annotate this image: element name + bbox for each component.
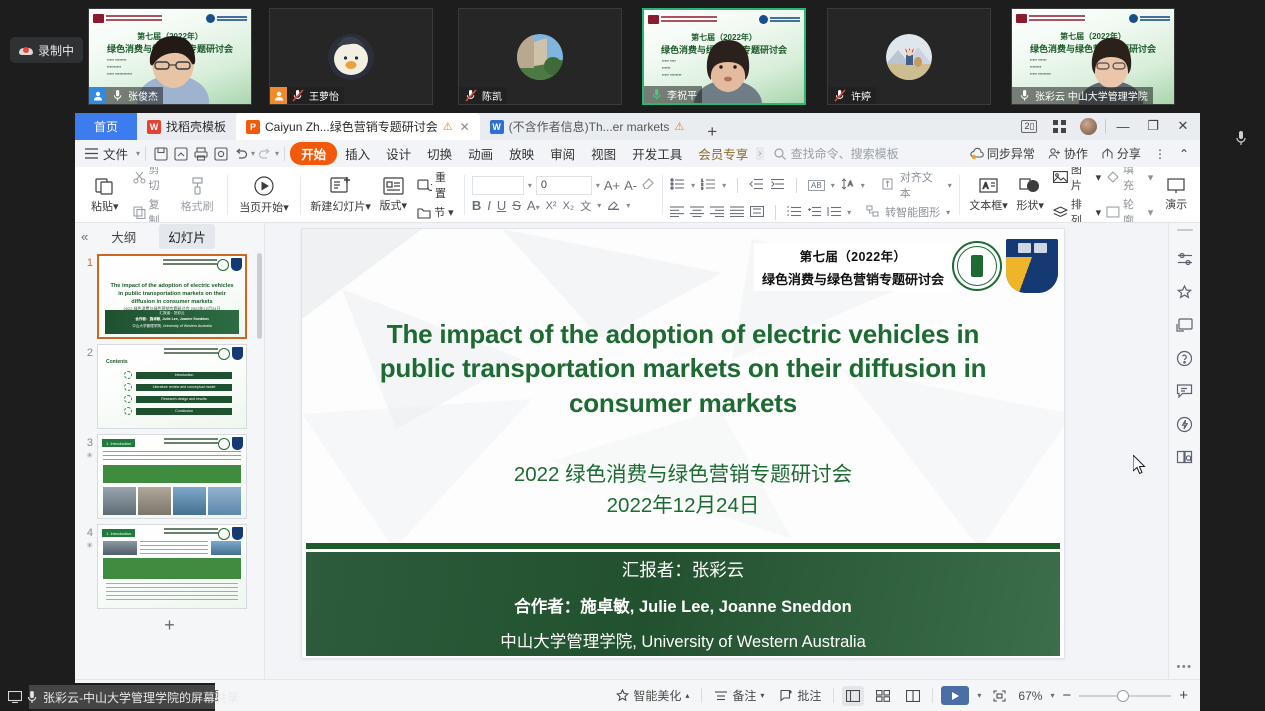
strikethrough-button[interactable]: S (512, 198, 521, 213)
search-placeholder: 查找命令、搜索模板 (791, 145, 899, 162)
ribbon-tab-design[interactable]: 设计 (378, 144, 419, 163)
font-size-input[interactable]: 0 (536, 176, 592, 195)
rail-grip[interactable] (1177, 229, 1193, 231)
bullets-icon (670, 178, 685, 190)
align-text-button[interactable] (881, 178, 894, 193)
align-justify-button[interactable] (730, 205, 744, 220)
grid-icon[interactable] (1046, 115, 1072, 137)
coauthors-line: 合作者：施卓敏, Julie Lee, Joanne Sneddon (514, 593, 851, 617)
fit-to-window-button[interactable] (989, 690, 1010, 702)
recording-indicator: 录制中 (10, 37, 83, 63)
collaborate-button[interactable]: 协作 (1043, 145, 1093, 162)
desktop-background-left (0, 113, 75, 711)
clear-format-icon (641, 176, 655, 189)
grow-font-button[interactable]: A+ (604, 178, 620, 193)
zoom-in-button[interactable]: + (1179, 687, 1188, 704)
redo-icon[interactable] (255, 144, 275, 164)
paste-button[interactable]: 粘贴▾ (82, 176, 128, 214)
share-icon (1101, 147, 1114, 160)
picture-icon (1053, 171, 1068, 183)
ribbon-tab-slideshow[interactable]: 放映 (501, 144, 542, 163)
thumbnail-row-4[interactable]: 4✳ 1. Introduction (75, 519, 264, 609)
restore-button[interactable]: ❐ (1140, 115, 1166, 137)
font-color-button[interactable]: A▾ (527, 198, 540, 213)
normal-view-button[interactable] (842, 686, 864, 706)
current-slide[interactable]: 第七届（2022年） 绿色消费与绿色营销专题研讨会 ❞ The impact o… (302, 229, 1064, 658)
wps-red-icon: W (147, 120, 161, 134)
smartart-icon (866, 205, 879, 217)
participant-namebar-3: 陈凯 (459, 87, 507, 104)
ribbon-tab-transition[interactable]: 切换 (419, 144, 460, 163)
menu-overflow-icon[interactable]: › (756, 147, 763, 160)
minimize-button[interactable]: — (1110, 115, 1136, 137)
play-circle-icon (253, 175, 275, 197)
chevron-down-icon[interactable]: ▾ (136, 149, 140, 158)
tab-bar: 首页 W 找稻壳模板 P Caiyun Zh...绿色营销专题研讨会 ⚠ ✕ W… (75, 113, 1200, 140)
thumbnail-number: 1 (79, 254, 93, 269)
align-justify-icon (730, 206, 744, 217)
sysu-seal-logo (952, 241, 1002, 291)
cut-button[interactable]: 剪切 (133, 167, 171, 193)
mic-muted-icon (464, 89, 478, 102)
numbering-button[interactable]: 123 (701, 178, 716, 193)
status-bar: 幻灯片 1 / 31 Office 主题 智能美化 ▴ 备注▾ 批注 (75, 679, 1200, 711)
uwa-crest-logo: ❞ (1006, 239, 1058, 293)
window-controls: 2▯ — ❐ ✕ (1016, 115, 1196, 137)
font-name-input[interactable] (472, 176, 524, 195)
avatar (328, 34, 374, 80)
list2-icon (807, 206, 821, 217)
slideshow-dropdown-icon[interactable]: ▾ (977, 691, 981, 700)
cut-icon (133, 171, 146, 184)
warning-icon: ⚠ (674, 120, 684, 133)
tab-outline[interactable]: 大纲 (102, 224, 145, 249)
align-right-icon (710, 206, 724, 217)
ribbon-group-drawing: A 文本框▾ 形状▾ 图片▾ 排列▾ (960, 169, 1200, 221)
slide-divider (306, 543, 1060, 549)
svg-text:A: A (848, 181, 853, 188)
reset-icon (417, 179, 432, 192)
section-button[interactable]: 节▾ (417, 204, 457, 220)
chevron-double-left-icon[interactable]: « (81, 229, 88, 244)
arrange-button[interactable]: 排列▾ (1053, 196, 1101, 223)
recording-label: 录制中 (38, 42, 74, 59)
tile-logos (648, 13, 800, 26)
hamburger-icon[interactable] (81, 144, 101, 164)
chevron-down-icon[interactable]: ▾ (528, 181, 532, 190)
shapes-button[interactable]: 形状▾ (1010, 177, 1050, 213)
format-painter-icon (188, 176, 207, 196)
align-text-label[interactable]: 对齐文本 (900, 169, 942, 201)
participant-name-1: 张俊杰 (128, 88, 158, 103)
distribute-button[interactable] (750, 205, 764, 220)
text-direction-button[interactable]: AB (808, 180, 825, 191)
thumbnail-number: 2 (79, 344, 93, 359)
screen-share-banner: 张彩云-中山大学管理学院的屏幕共享 (0, 683, 215, 711)
mic-icon (110, 89, 124, 102)
document-search-icon[interactable] (1173, 446, 1197, 468)
normal-view-icon (846, 690, 860, 702)
copy-icon (133, 206, 146, 219)
ribbon-tab-view[interactable]: 视图 (583, 144, 624, 163)
close-tab-icon[interactable]: ✕ (458, 120, 470, 134)
align-left-icon (670, 206, 684, 217)
workspace: « 大纲 幻灯片 1 The impact of the adoption of… (75, 223, 1200, 679)
avatar[interactable] (1080, 118, 1097, 135)
screen: 录制中 第七届（2022年） 绿色消费与绿色营销专题研讨会 ▪▪▪▪▪ ▪▪▪▪… (0, 0, 1265, 711)
thumbnail-slide-4[interactable]: 1. Introduction (97, 524, 247, 609)
desktop-background-right (1200, 113, 1265, 711)
convert-smartart-button[interactable] (866, 205, 879, 220)
textbox-button[interactable]: A 文本框▾ (967, 177, 1011, 213)
participant-namebar-6: 张彩云 中山大学管理学院 (1012, 87, 1153, 104)
participant-name-4: 李祝平 (667, 87, 697, 102)
zoom-slider[interactable] (1079, 695, 1171, 697)
thumbnail-scrollbar[interactable] (257, 253, 262, 339)
undo-icon[interactable] (231, 144, 251, 164)
participant-tile-6[interactable]: 第七届（2022年） 绿色消费与绿色营销专题研讨会 ▪▪▪▪▪ ▪▪▪▪▪▪▪▪… (1011, 8, 1175, 105)
ribbon-group-present: 当页开始▾ (228, 169, 300, 221)
tab-count-badge[interactable]: 2▯ (1016, 115, 1042, 137)
sync-status[interactable]: 同步异常 (965, 145, 1040, 162)
start-slideshow-button[interactable] (941, 686, 969, 705)
user-icon (270, 87, 287, 104)
search-box[interactable]: 查找命令、搜索模板 (774, 145, 899, 162)
tab-presentation[interactable]: P Caiyun Zh...绿色营销专题研讨会 ⚠ ✕ (236, 113, 480, 140)
thumbnail-heading: 1. Introduction (102, 529, 135, 537)
fit-to-window-icon (993, 690, 1006, 702)
notes-button[interactable]: 备注▾ (710, 687, 768, 704)
distribute-icon (750, 206, 764, 217)
line-spacing-icon: A (841, 178, 855, 190)
mic-icon (27, 690, 37, 704)
participant-namebar-5: 许婷 (828, 87, 876, 104)
thumbnail-number: 4✳ (79, 524, 93, 551)
wps-office-window: 首页 W 找稻壳模板 P Caiyun Zh...绿色营销专题研讨会 ⚠ ✕ W… (75, 113, 1200, 711)
mouse-cursor (1133, 455, 1146, 475)
tab-document[interactable]: W (不含作者信息)Th...er markets ⚠ (480, 113, 695, 140)
play-icon (950, 691, 960, 701)
comment-icon (780, 689, 793, 702)
highlight-button[interactable] (607, 198, 620, 213)
ribbon-toolbar: 粘贴▾ 剪切 复制 格式刷 (75, 167, 1200, 223)
participant-tile-2[interactable]: 王萝怡 (269, 8, 433, 105)
tab-templates[interactable]: W 找稻壳模板 (137, 113, 236, 140)
mic-muted-icon (291, 89, 305, 102)
thumbnail-title: The impact of the adoption of electric v… (109, 282, 235, 306)
warning-icon: ⚠ (443, 120, 453, 133)
reading-view-button[interactable] (902, 686, 924, 706)
presenter-line: 汇报者：张彩云 (622, 557, 745, 582)
status-right: 智能美化 ▴ 备注▾ 批注 (612, 686, 1200, 706)
print-preview-icon[interactable] (211, 144, 231, 164)
slide-canvas-area: 第七届（2022年） 绿色消费与绿色营销专题研讨会 ❞ The impact o… (265, 223, 1200, 679)
ribbon-group-slides: 新建幻灯片▾ 版式▾ 重置 节▾ (301, 169, 464, 221)
present-button[interactable]: 演示 (1159, 178, 1193, 212)
list-icon (787, 206, 801, 217)
italic-button[interactable]: I (487, 198, 491, 213)
conference-banner: 第七届（2022年） 绿色消费与绿色营销专题研讨会 (754, 243, 952, 291)
picture-button[interactable]: 图片▾ (1053, 167, 1101, 193)
ribbon-tab-insert[interactable]: 插入 (337, 144, 378, 163)
chevron-down-icon[interactable]: ▾ (596, 181, 600, 190)
slide-subtitle: 2022 绿色消费与绿色营销专题研讨会 2022年12月24日 (350, 459, 1016, 521)
tile-logos (1016, 12, 1170, 25)
increase-indent-button[interactable] (770, 178, 785, 193)
align-center-button[interactable] (690, 205, 704, 220)
user-icon (89, 87, 106, 104)
section-icon (417, 206, 431, 219)
ppt-icon: P (246, 120, 260, 134)
list-button-3[interactable] (827, 205, 841, 220)
collaborate-icon (1048, 147, 1061, 160)
fill-button[interactable]: 填充▾ (1106, 167, 1153, 193)
zoom-out-button[interactable]: − (1062, 687, 1071, 704)
participant-namebar-1: 张俊杰 (89, 87, 163, 104)
share-button[interactable]: 分享 (1096, 145, 1146, 162)
ribbon-tab-member[interactable]: 会员专享 (690, 144, 756, 163)
subscript-button[interactable]: X₂ (563, 200, 575, 212)
thumbnail-green-box: 汇报者：张彩云 合作者：施卓敏, Julie Lee, Joanne Snedd… (105, 310, 239, 334)
doc-icon: W (490, 120, 504, 134)
outline-icon (1106, 206, 1120, 218)
slide-author-box: 汇报者：张彩云 合作者：施卓敏, Julie Lee, Joanne Snedd… (306, 552, 1060, 656)
thumbnail-pane-header: « 大纲 幻灯片 (75, 223, 264, 249)
ribbon-tab-animation[interactable]: 动画 (460, 144, 501, 163)
format-painter-button[interactable]: 格式刷 (174, 176, 220, 214)
present-icon (1167, 178, 1185, 194)
zoom-dropdown-icon[interactable]: ▾ (1050, 691, 1054, 700)
new-slide-icon (330, 176, 352, 196)
beautify-button[interactable]: 智能美化 ▴ (612, 687, 693, 704)
ribbon-tab-devtools[interactable]: 开发工具 (624, 144, 690, 163)
thumbnail-slide-3[interactable]: 1. Introduction (97, 434, 247, 519)
participant-name-6: 张彩云 中山大学管理学院 (1035, 88, 1148, 103)
slide-thumbnail-pane: « 大纲 幻灯片 1 The impact of the adoption of… (75, 223, 265, 679)
textbox-icon: A (978, 177, 999, 195)
arrange-icon (1053, 206, 1068, 218)
bullets-button[interactable] (670, 178, 685, 193)
thumbnail-number: 3✳ (79, 434, 93, 461)
align-text-icon (881, 178, 894, 190)
tile-logos (93, 12, 247, 25)
participant-tile-3[interactable]: 陈凯 (458, 8, 622, 105)
fill-icon (1106, 171, 1120, 183)
thumbnail-row-2[interactable]: 2 Contents Introduction Literature revie… (75, 339, 264, 429)
participant-tile-5[interactable]: 许婷 (827, 8, 991, 105)
participant-name-3: 陈凯 (482, 88, 502, 103)
save-icon[interactable] (151, 144, 171, 164)
tab-slides[interactable]: 幻灯片 (159, 224, 215, 249)
collapse-ribbon-icon[interactable]: ⌃ (1174, 147, 1194, 161)
thumbnail-heading: Contents (106, 359, 128, 365)
participant-tile-1[interactable]: 第七届（2022年） 绿色消费与绿色营销专题研讨会 ▪▪▪▪▪ ▪▪▪▪▪▪▪▪… (88, 8, 252, 105)
screen-share-icon[interactable] (1173, 314, 1197, 336)
print-icon[interactable] (191, 144, 211, 164)
participant-namebar-4: 李祝平 (644, 86, 702, 103)
thumbnail-slide-2[interactable]: Contents Introduction Literature review … (97, 344, 247, 429)
more-options-icon[interactable]: ⋮ (1149, 147, 1171, 161)
paste-icon (94, 176, 115, 196)
participant-namebar-2: 王萝怡 (270, 87, 344, 104)
mic-icon (1017, 89, 1031, 102)
ribbon-group-clipboard: 粘贴▾ 剪切 复制 格式刷 (75, 169, 227, 221)
help-circle-icon[interactable] (1173, 347, 1197, 369)
start-from-current-button[interactable]: 当页开始▾ (235, 175, 293, 215)
search-icon (774, 148, 786, 160)
align-right-button[interactable] (710, 205, 724, 220)
feedback-icon[interactable] (1173, 380, 1197, 402)
list-button-1[interactable] (787, 205, 801, 220)
decrease-indent-icon (749, 178, 764, 190)
notes-icon (714, 690, 728, 702)
thumbnail-slide-1[interactable]: The impact of the adoption of electric v… (97, 254, 247, 339)
list3-icon (827, 206, 841, 217)
reset-button[interactable]: 重置 (417, 169, 457, 201)
outline-button[interactable]: 轮廓▾ (1106, 196, 1153, 223)
layout-icon (383, 177, 404, 195)
shrink-font-button[interactable]: A- (624, 178, 637, 193)
convert-smartart-label[interactable]: 转智能图形 (885, 204, 940, 220)
thumbnail-list[interactable]: 1 The impact of the adoption of electric… (75, 249, 264, 679)
avatar (886, 34, 932, 80)
decrease-indent-button[interactable] (749, 178, 764, 193)
meeting-mic-icon[interactable] (1235, 130, 1247, 151)
participant-tile-4[interactable]: 第七届（2022年） 绿色消费与绿色营销专题研讨会 ▪▪▪▪▪ ▪▪▪▪▪▪▪▪… (642, 8, 806, 105)
menu-bar: 文件 ▾ ▾ ▾ 开始 插入 (75, 140, 1200, 167)
svg-text:3: 3 (701, 185, 704, 190)
magic-star-icon[interactable] (1173, 281, 1197, 303)
slide-sorter-icon (876, 690, 890, 702)
add-slide-button[interactable]: + (75, 609, 264, 636)
comments-button[interactable]: 批注 (776, 687, 825, 704)
participant-name-2: 王萝怡 (309, 88, 339, 103)
video-conference-strip: 录制中 第七届（2022年） 绿色消费与绿色营销专题研讨会 ▪▪▪▪▪ ▪▪▪▪… (0, 0, 1265, 113)
tab-home[interactable]: 首页 (75, 113, 137, 140)
increase-indent-icon (770, 178, 785, 190)
align-center-icon (690, 206, 704, 217)
close-button[interactable]: ✕ (1170, 115, 1196, 137)
svg-text:A: A (983, 181, 989, 190)
shapes-icon (1019, 177, 1041, 195)
reading-view-icon (906, 690, 920, 702)
cloud-warning-icon (970, 147, 984, 160)
save-as-icon[interactable] (171, 144, 191, 164)
clear-format-button[interactable] (641, 176, 655, 194)
ribbon-tab-start[interactable]: 开始 (290, 142, 337, 165)
mic-muted-icon (833, 89, 847, 102)
slide-title: The impact of the adoption of electric v… (350, 317, 1016, 420)
beautify-icon (616, 689, 629, 702)
numbering-icon: 123 (701, 178, 716, 190)
thumbnail-row-1[interactable]: 1 The impact of the adoption of electric… (75, 249, 264, 339)
avatar (517, 34, 563, 80)
record-cloud-icon (19, 45, 33, 56)
thumbnail-heading: 1. Introduction (102, 439, 135, 447)
layout-button[interactable]: 版式▾ (373, 177, 413, 213)
menu-right-actions: 同步异常 协作 分享 ⋮ ⌃ (965, 140, 1194, 167)
affiliation-line: 中山大学管理学院, University of Western Australi… (500, 628, 866, 652)
thumbnail-row-3[interactable]: 3✳ 1. Introduction (75, 429, 264, 519)
participant-name-5: 许婷 (851, 88, 871, 103)
ribbon-group-paragraph: ▾ 123 ▾ AB▾ A (663, 169, 959, 221)
new-tab-button[interactable]: + (694, 123, 730, 140)
copy-button[interactable]: 复制 (133, 196, 171, 223)
underline-button[interactable]: U (497, 198, 506, 213)
share-banner-text: 张彩云-中山大学管理学院的屏幕共享 (43, 689, 239, 706)
rail-more-button[interactable]: ••• (1169, 661, 1200, 673)
ribbon-tab-review[interactable]: 审阅 (542, 144, 583, 163)
line-spacing-button[interactable]: A (841, 178, 855, 193)
lightning-icon[interactable] (1173, 413, 1197, 435)
file-menu[interactable]: 文件 (101, 144, 136, 163)
pinyin-button[interactable]: 文 (580, 198, 591, 214)
zoom-level[interactable]: 67% (1018, 689, 1042, 703)
slide-sorter-button[interactable] (872, 686, 894, 706)
superscript-button[interactable]: X² (546, 200, 557, 212)
align-left-button[interactable] (670, 205, 684, 220)
list-button-2[interactable] (807, 205, 821, 220)
bold-button[interactable]: B (472, 198, 481, 213)
screen-icon (8, 691, 22, 703)
ribbon-group-font: ▾ 0 ▾ A+ A- B I U S A▾ (465, 169, 662, 221)
sliders-icon[interactable] (1173, 248, 1197, 270)
new-slide-button[interactable]: 新建幻灯片▾ (308, 176, 373, 214)
mic-icon (649, 88, 663, 101)
highlight-icon (607, 198, 620, 210)
right-icon-rail: ••• (1168, 223, 1200, 679)
more-quick-icon[interactable]: ▾ (275, 149, 279, 158)
